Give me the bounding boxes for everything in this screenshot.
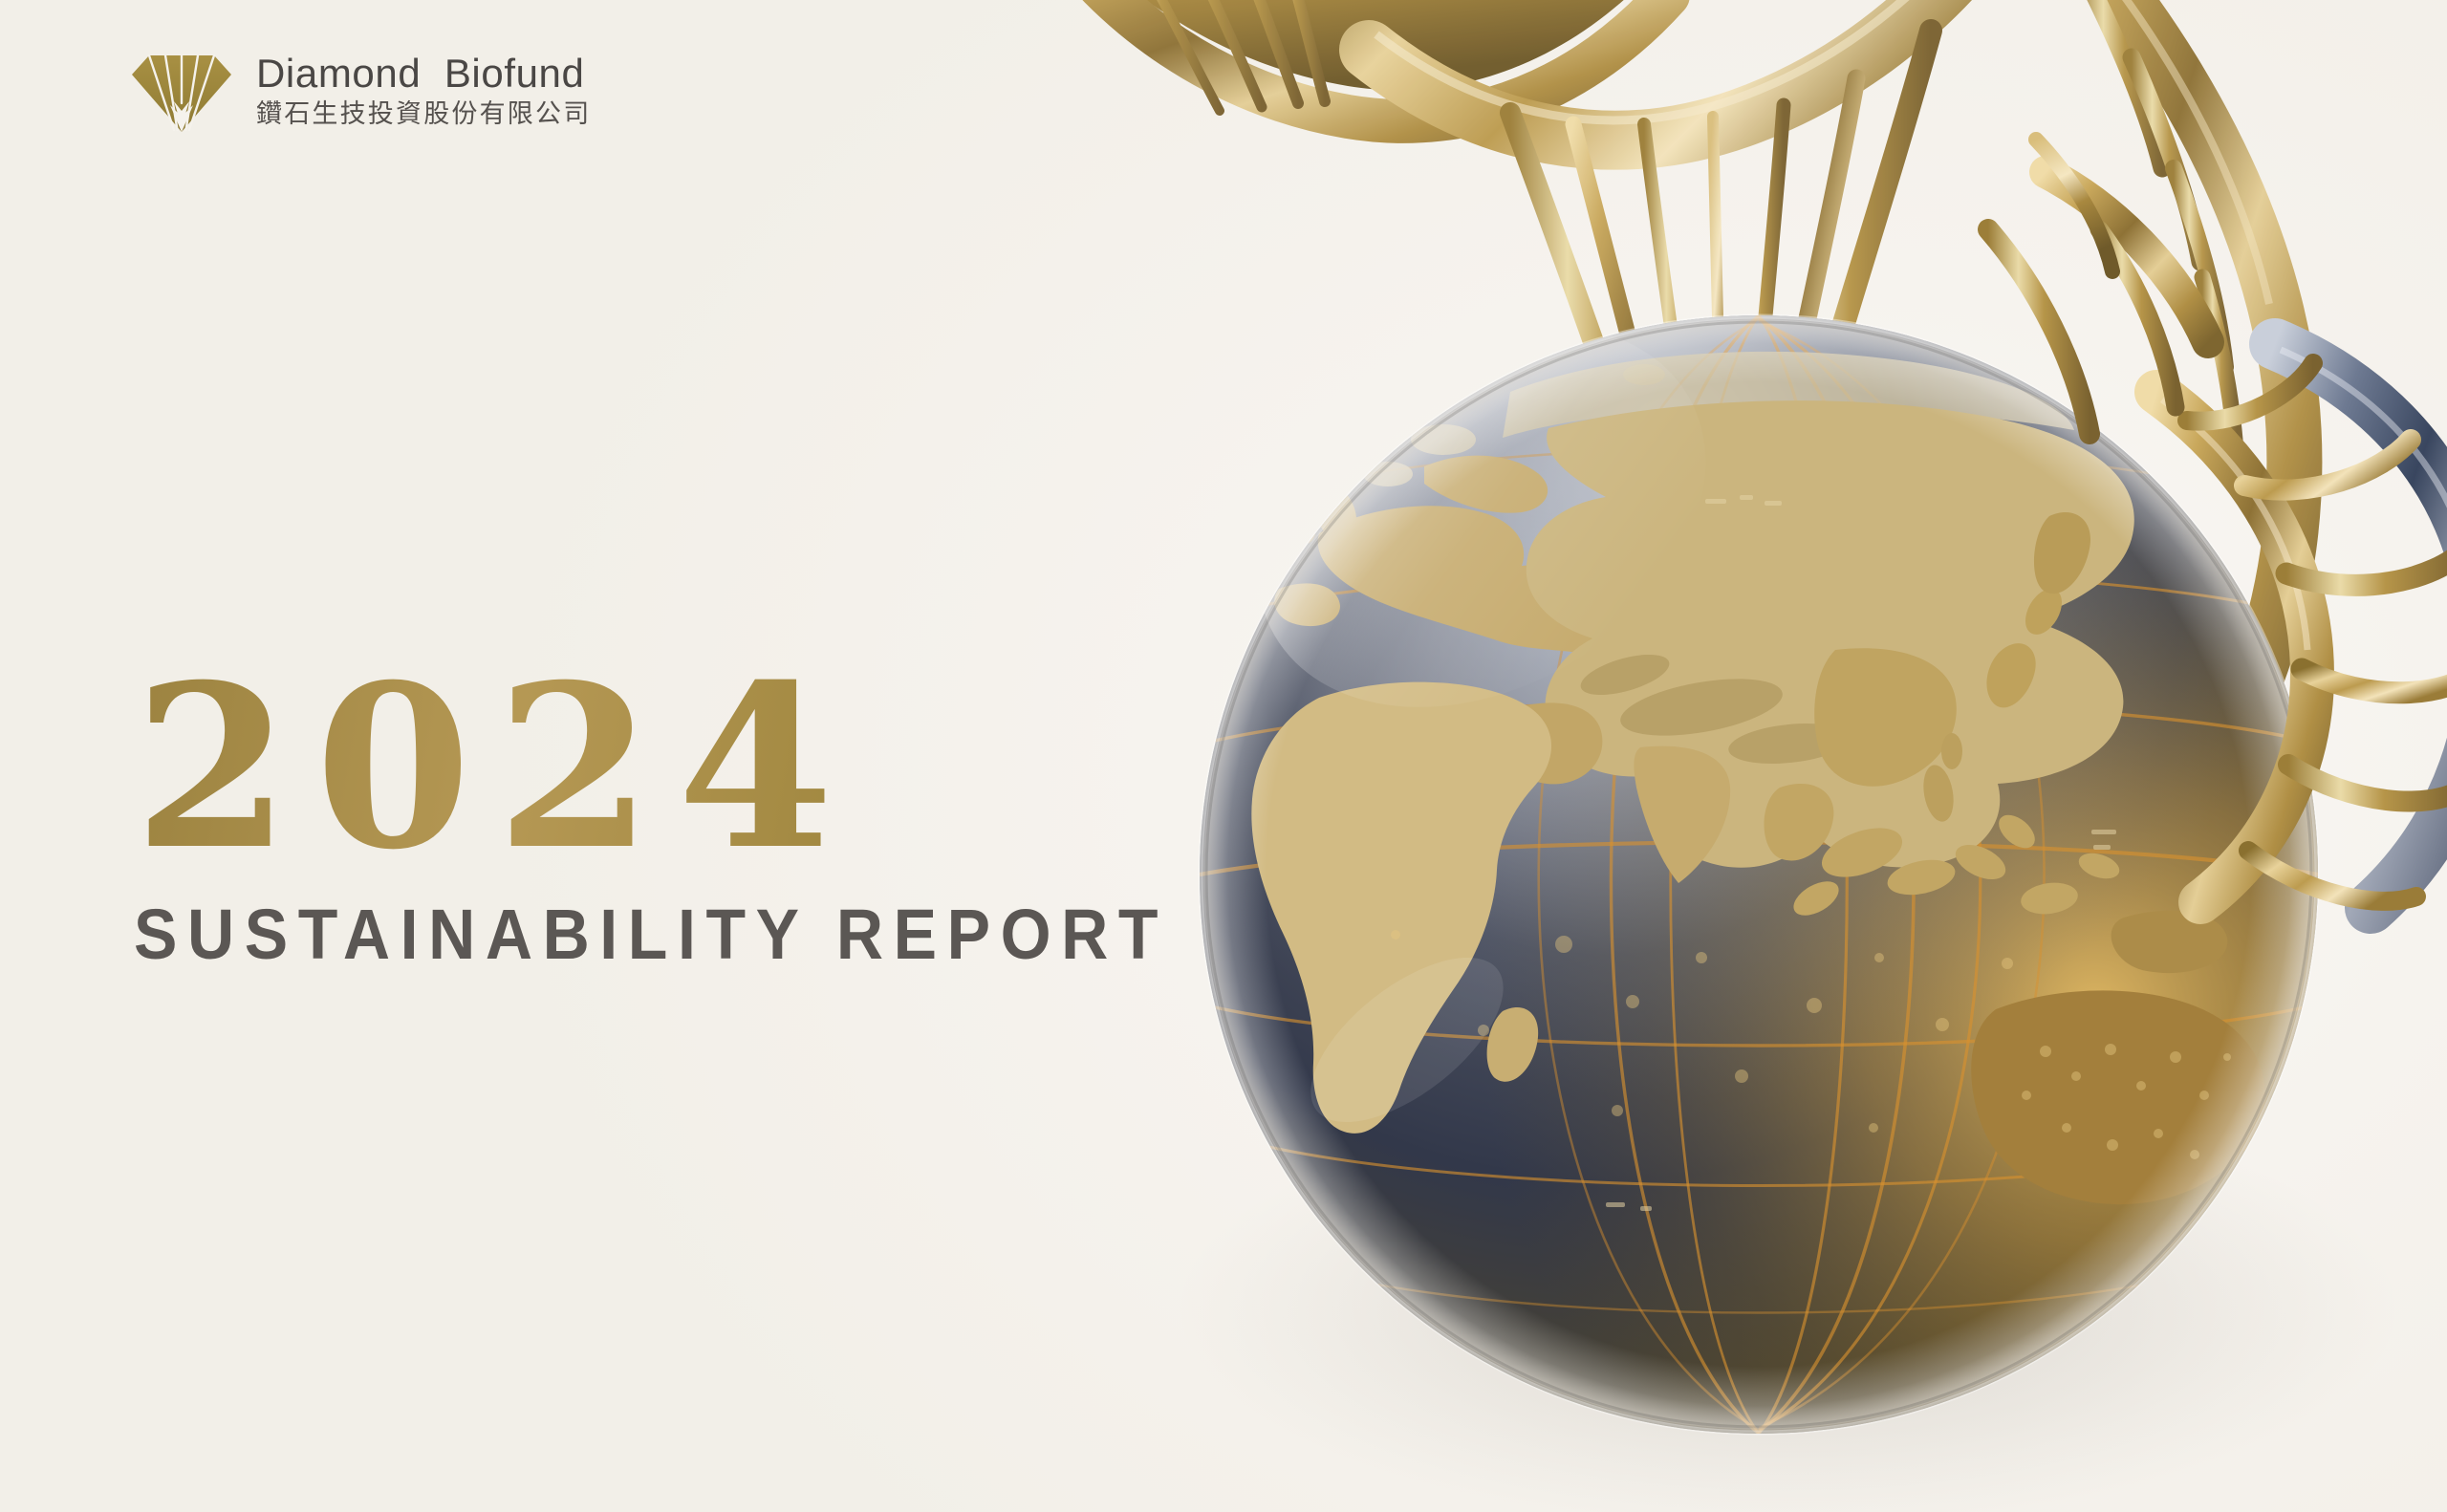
report-cover-page: Diamond Biofund 鑽石生技投資股份有限公司 2024 SUSTAI… bbox=[0, 0, 2447, 1512]
cover-title-block: 2024 SUSTAINABILITY REPORT bbox=[134, 669, 1258, 970]
report-year: 2024 bbox=[134, 669, 1258, 867]
brand-name-english: Diamond Biofund bbox=[256, 53, 591, 95]
diamond-icon bbox=[132, 48, 231, 132]
brand-name-chinese: 鑽石生技投資股份有限公司 bbox=[256, 99, 591, 129]
report-subtitle: SUSTAINABILITY REPORT bbox=[134, 899, 1168, 970]
brand-logo-lockup: Diamond Biofund 鑽石生技投資股份有限公司 bbox=[132, 48, 591, 132]
